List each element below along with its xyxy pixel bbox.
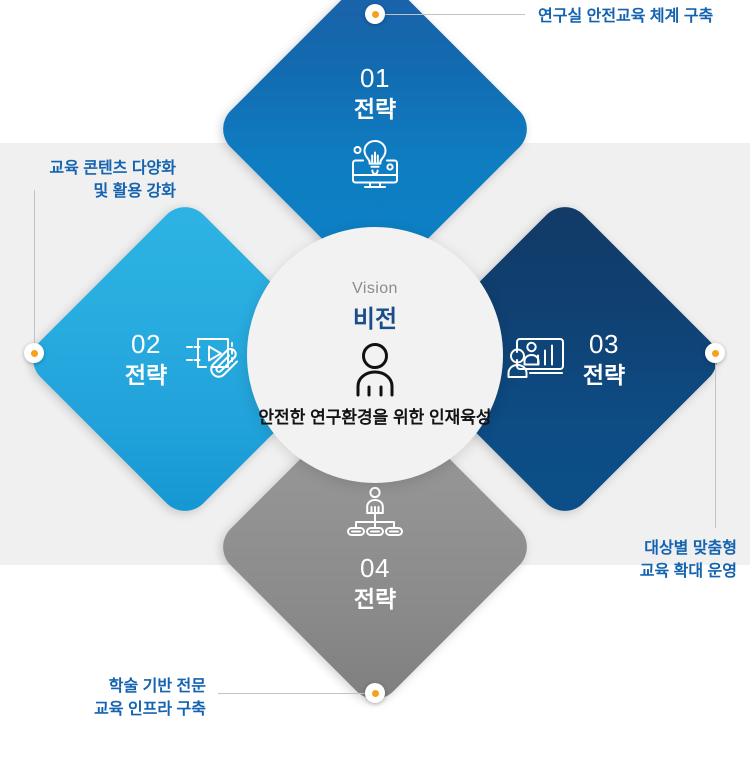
strategy-stack-04: 04 전략 — [343, 481, 407, 613]
strategy-number-04: 04 — [354, 553, 396, 585]
diagram-canvas: 01 전략 — [0, 0, 750, 720]
strategy-label-04: 04 전략 — [354, 553, 396, 613]
caption-strategy-01: 연구실 안전교육 체계 구축 — [538, 5, 713, 28]
strategy-word-01: 전략 — [354, 95, 396, 123]
connector-dot-04 — [365, 683, 385, 703]
lightbulb-monitor-icon — [343, 135, 407, 195]
connector-dot-03 — [705, 343, 725, 363]
person-icon — [349, 342, 401, 403]
caption-strategy-02: 교육 콘텐츠 다양화 및 활용 강화 — [14, 157, 176, 203]
strategy-word-03: 전략 — [583, 361, 625, 389]
strategy-number-02: 02 — [125, 329, 167, 361]
vision-circle: Vision 비전 안전한 연구환경을 위한 인재육성 — [247, 227, 503, 483]
connector-line-04 — [218, 693, 368, 694]
vision-description: 안전한 연구환경을 위한 인재육성 — [258, 407, 491, 429]
strategy-label-01: 01 전략 — [354, 63, 396, 123]
strategy-stack-01: 01 전략 — [343, 63, 407, 195]
presenter-chart-icon — [505, 329, 569, 389]
caption-strategy-04: 학술 기반 전문 교육 인프라 구축 — [82, 675, 206, 721]
vision-label-ko: 비전 — [353, 299, 397, 334]
strategy-stack-02: 02 전략 — [125, 329, 245, 389]
strategy-word-02: 전략 — [125, 361, 167, 389]
strategy-label-02: 02 전략 — [125, 329, 167, 389]
strategy-label-03: 03 전략 — [583, 329, 625, 389]
connector-line-02 — [34, 190, 35, 355]
strategy-number-01: 01 — [354, 63, 396, 95]
connector-line-01 — [385, 14, 525, 15]
connector-dot-02 — [24, 343, 44, 363]
connector-line-03 — [715, 363, 716, 528]
strategy-number-03: 03 — [583, 329, 625, 361]
vision-label-en: Vision — [352, 280, 398, 298]
org-chart-icon — [343, 481, 407, 541]
connector-dot-01 — [365, 4, 385, 24]
video-attachment-icon — [181, 329, 245, 389]
strategy-stack-03: 03 전략 — [505, 329, 625, 389]
caption-strategy-03: 대상별 맞춤형 교육 확대 운영 — [625, 537, 737, 583]
strategy-content-01: 01 전략 — [260, 14, 490, 244]
strategy-word-04: 전략 — [354, 585, 396, 613]
